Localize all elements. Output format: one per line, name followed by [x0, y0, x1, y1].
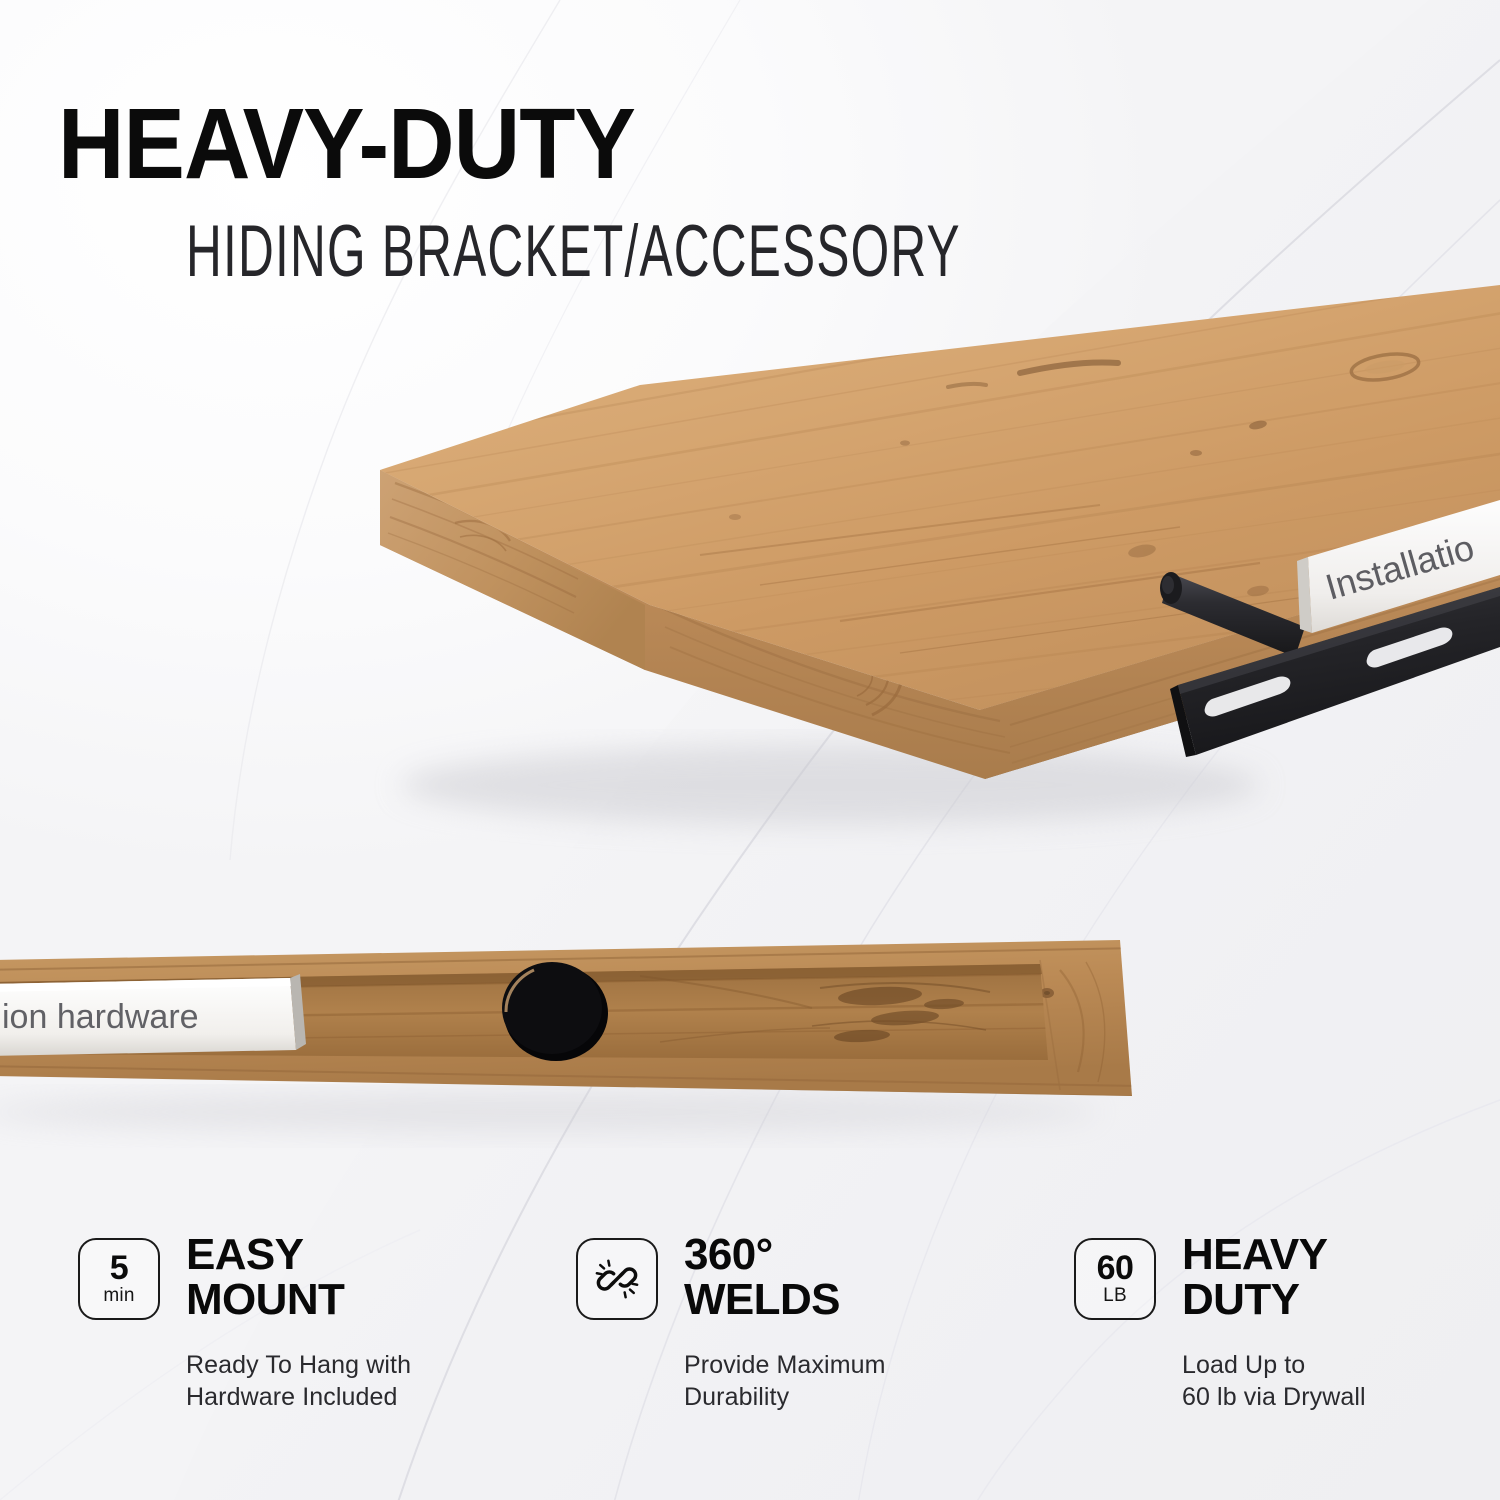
feature-title: HEAVY DUTY: [1182, 1232, 1366, 1323]
shelf-illustration-bottom: ion hardware: [0, 900, 1500, 1160]
feature-description: Ready To Hang with Hardware Included: [186, 1349, 411, 1413]
feature-heavy-duty: 60 LB HEAVY DUTY Load Up to 60 lb via Dr…: [1068, 1232, 1500, 1462]
sixty-pound-badge: 60 LB: [1074, 1238, 1156, 1320]
feature-description: Load Up to 60 lb via Drywall: [1182, 1349, 1366, 1413]
badge-value: 5: [110, 1252, 128, 1284]
badge-unit: LB: [1103, 1286, 1127, 1306]
feature-body: HEAVY DUTY Load Up to 60 lb via Drywall: [1182, 1232, 1366, 1413]
feature-easy-mount: 5 min EASY MOUNT Ready To Hang with Hard…: [72, 1232, 548, 1462]
hardware-label-text: ion hardware: [2, 998, 199, 1036]
product-photo-shelf-groove: ion hardware: [0, 900, 1500, 1160]
headline-block: HEAVY-DUTY: [58, 95, 1158, 193]
feature-row: 5 min EASY MOUNT Ready To Hang with Hard…: [0, 1232, 1500, 1462]
feature-body: EASY MOUNT Ready To Hang with Hardware I…: [186, 1232, 411, 1413]
page-title: HEAVY-DUTY: [58, 95, 1070, 193]
shelf-illustration-top: Installatio: [0, 255, 1500, 855]
five-minute-badge: 5 min: [78, 1238, 160, 1320]
badge-value: 60: [1097, 1252, 1134, 1284]
feature-title: 360° WELDS: [684, 1232, 886, 1323]
feature-360-welds: 360° WELDS Provide Maximum Durability: [570, 1232, 1046, 1462]
badge-unit: min: [103, 1286, 134, 1306]
feature-title: EASY MOUNT: [186, 1232, 411, 1323]
chain-link-weld-badge: [576, 1238, 658, 1320]
feature-body: 360° WELDS Provide Maximum Durability: [684, 1232, 886, 1413]
chain-link-weld-icon: [594, 1256, 640, 1302]
product-photo-shelf-bracket: Installatio: [0, 255, 1500, 855]
feature-description: Provide Maximum Durability: [684, 1349, 886, 1413]
